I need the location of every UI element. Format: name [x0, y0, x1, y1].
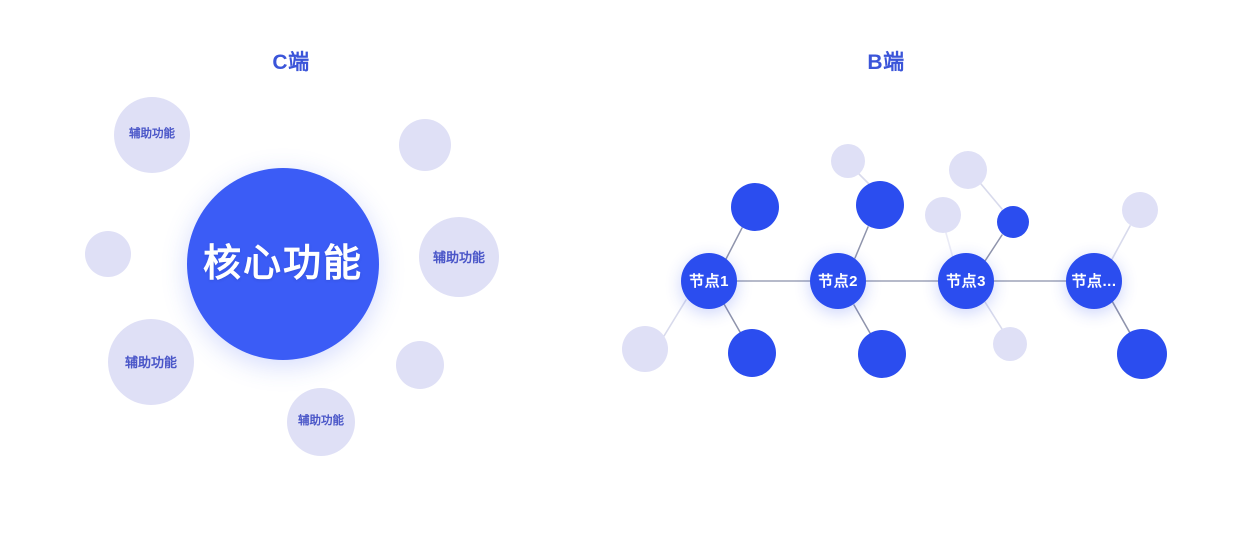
satellite-circle-bottom-right-small[interactable] — [396, 341, 444, 389]
satellite-circle-bottom-center[interactable]: 辅助功能 — [287, 388, 355, 456]
branch-node-down-1[interactable] — [728, 329, 776, 377]
main-node-label: 节点2 — [818, 274, 858, 289]
diagram-canvas: C端 B端 辅助功能 — [0, 0, 1242, 547]
connector-lines — [0, 0, 1242, 547]
main-node-4[interactable]: 节点... — [1066, 253, 1122, 309]
branch-node-down-2[interactable] — [858, 330, 906, 378]
branch-dot-up-3[interactable] — [949, 151, 987, 189]
satellite-label: 辅助功能 — [129, 129, 175, 141]
satellite-circle-top-left[interactable]: 辅助功能 — [114, 97, 190, 173]
main-node-2[interactable]: 节点2 — [810, 253, 866, 309]
satellite-circle-bottom-left[interactable]: 辅助功能 — [108, 319, 194, 405]
satellite-label: 辅助功能 — [298, 416, 344, 428]
satellite-circle-top-right-small[interactable] — [399, 119, 451, 171]
branch-dot-up-2[interactable] — [831, 144, 865, 178]
branch-dot-side-3[interactable] — [925, 197, 961, 233]
core-function-circle[interactable]: 核心功能 — [187, 168, 379, 360]
satellite-circle-right[interactable]: 辅助功能 — [419, 217, 499, 297]
branch-node-up-1[interactable] — [731, 183, 779, 231]
branch-node-up-2[interactable] — [856, 181, 904, 229]
branch-node-left-1[interactable] — [622, 326, 668, 372]
branch-dot-down-3[interactable] — [993, 327, 1027, 361]
main-node-label: 节点... — [1071, 274, 1116, 289]
section-title-b-side: B端 — [867, 46, 904, 76]
main-node-1[interactable]: 节点1 — [681, 253, 737, 309]
section-title-c-side: C端 — [272, 46, 309, 76]
main-node-label: 节点1 — [689, 274, 729, 289]
branch-node-up-3[interactable] — [997, 206, 1029, 238]
satellite-label: 辅助功能 — [125, 356, 177, 369]
satellite-circle-left-small[interactable] — [85, 231, 131, 277]
core-function-label: 核心功能 — [203, 245, 363, 283]
main-node-label: 节点3 — [946, 274, 986, 289]
satellite-label: 辅助功能 — [433, 251, 485, 264]
branch-dot-up-4[interactable] — [1122, 192, 1158, 228]
branch-node-down-4[interactable] — [1117, 329, 1167, 379]
main-node-3[interactable]: 节点3 — [938, 253, 994, 309]
